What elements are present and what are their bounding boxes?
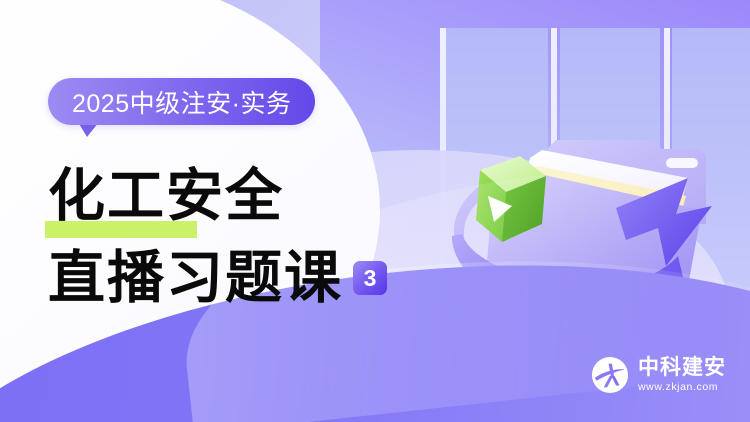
course-category-pill: 2025中级注安·实务 bbox=[48, 78, 315, 125]
circle-person-swoosh-icon bbox=[591, 356, 629, 394]
episode-number-badge: 3 bbox=[353, 261, 387, 295]
brand-website: www.zkjan.com bbox=[638, 382, 726, 393]
brand-name: 中科建安 bbox=[638, 357, 726, 378]
course-title-line-1: 化工安全 bbox=[48, 155, 387, 237]
folder-tab-slot bbox=[666, 158, 698, 168]
course-title-line-2: 直播习题课 3 bbox=[48, 237, 387, 319]
course-title-secondary: 直播习题课 bbox=[48, 237, 343, 319]
course-title-primary: 化工安全 bbox=[48, 155, 284, 237]
brand-logo: 中科建安 www.zkjan.com bbox=[591, 356, 726, 394]
course-title-block: 化工安全 直播习题课 3 bbox=[48, 155, 387, 319]
course-banner: 2025中级注安·实务 化工安全 直播习题课 3 中科建安 www.zkjan.… bbox=[0, 0, 750, 422]
course-category-label: 2025中级注安·实务 bbox=[72, 84, 291, 120]
brand-logo-text: 中科建安 www.zkjan.com bbox=[638, 357, 726, 393]
